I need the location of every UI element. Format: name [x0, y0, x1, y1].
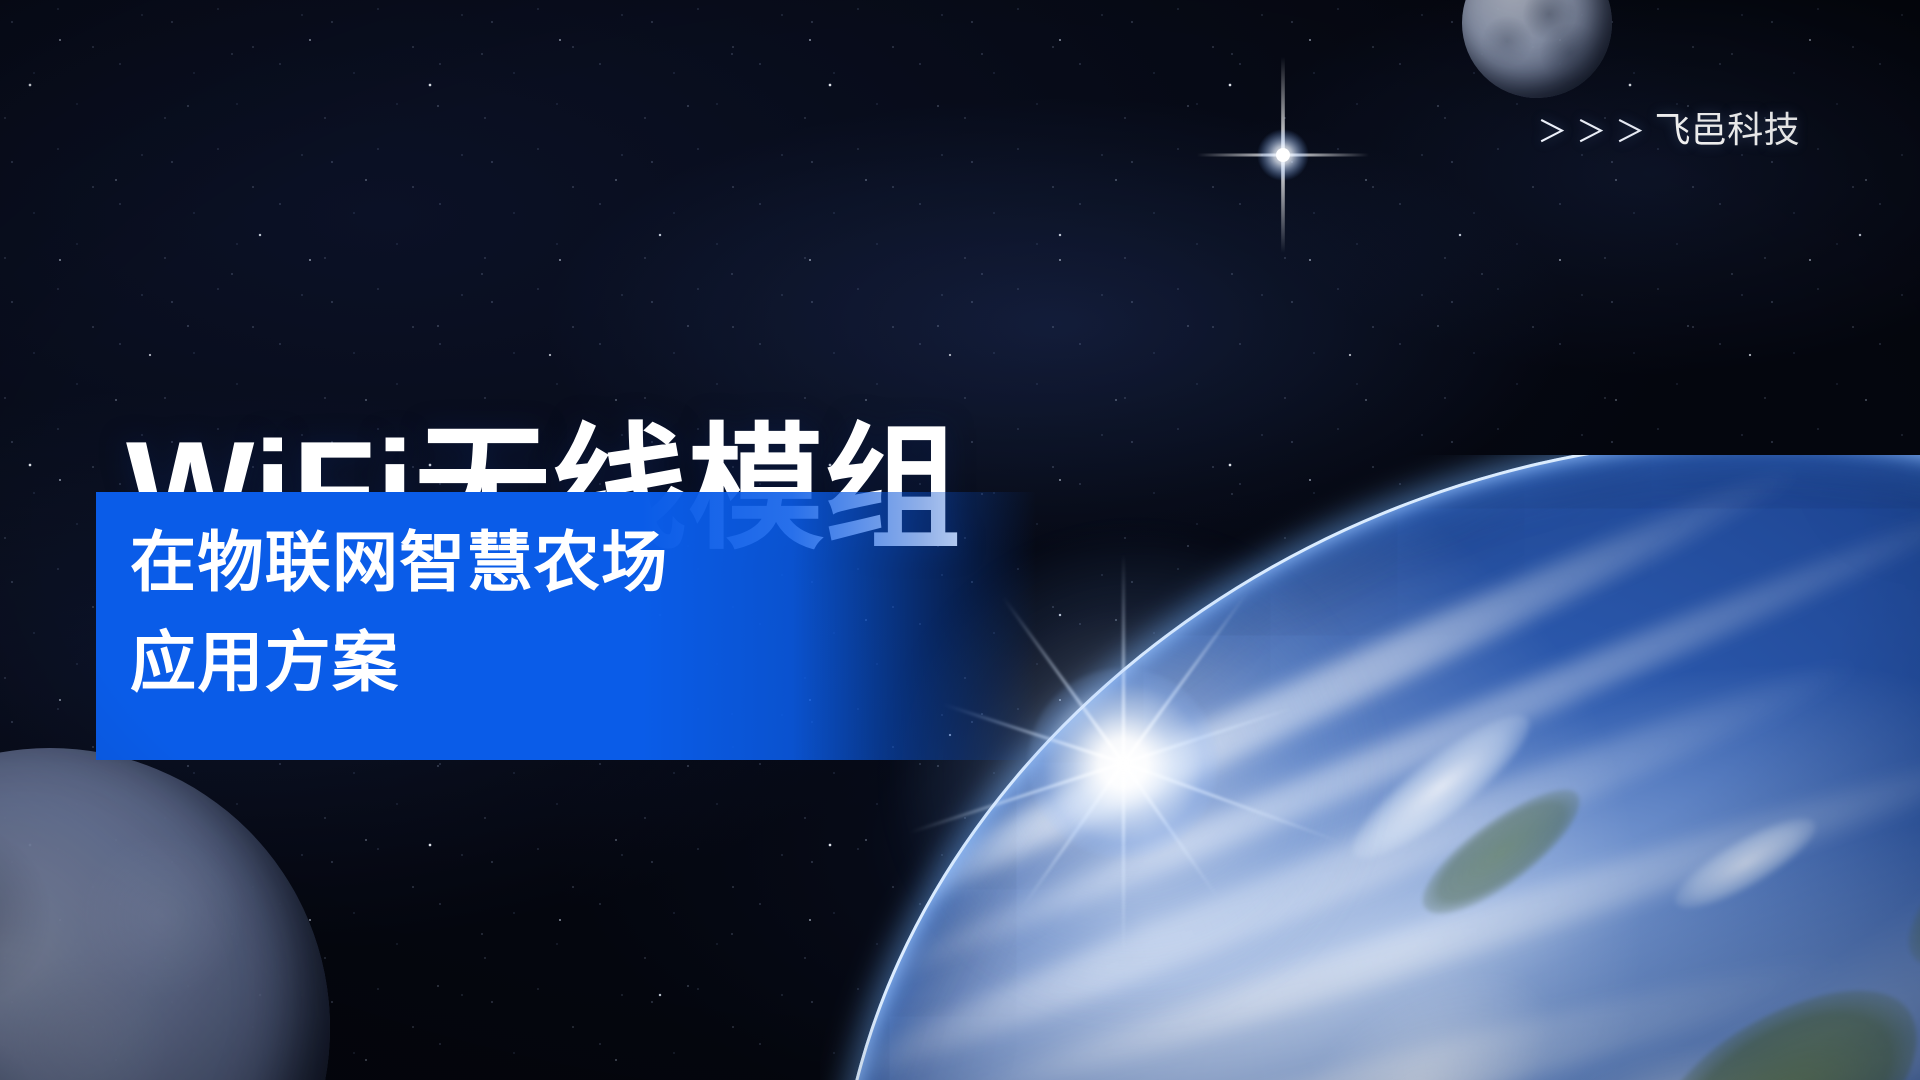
bright-star-icon	[1183, 55, 1383, 255]
subtitle-line-2: 应用方案	[130, 612, 1010, 712]
poster-canvas: ＞ ＞ ＞ 飞邑科技 WiFi无线模组 在物联网智慧农场 应用方案	[0, 0, 1920, 1080]
brand-name: 飞邑科技	[1655, 112, 1800, 148]
subtitle-line-1: 在物联网智慧农场	[130, 512, 1010, 612]
sun-flare-core	[1028, 668, 1218, 858]
brand-logo: ＞ ＞ ＞ 飞邑科技	[1537, 112, 1800, 148]
page-subtitle: 在物联网智慧农场 应用方案	[130, 512, 1010, 713]
chevron-right-icon: ＞ ＞ ＞	[1537, 118, 1645, 148]
